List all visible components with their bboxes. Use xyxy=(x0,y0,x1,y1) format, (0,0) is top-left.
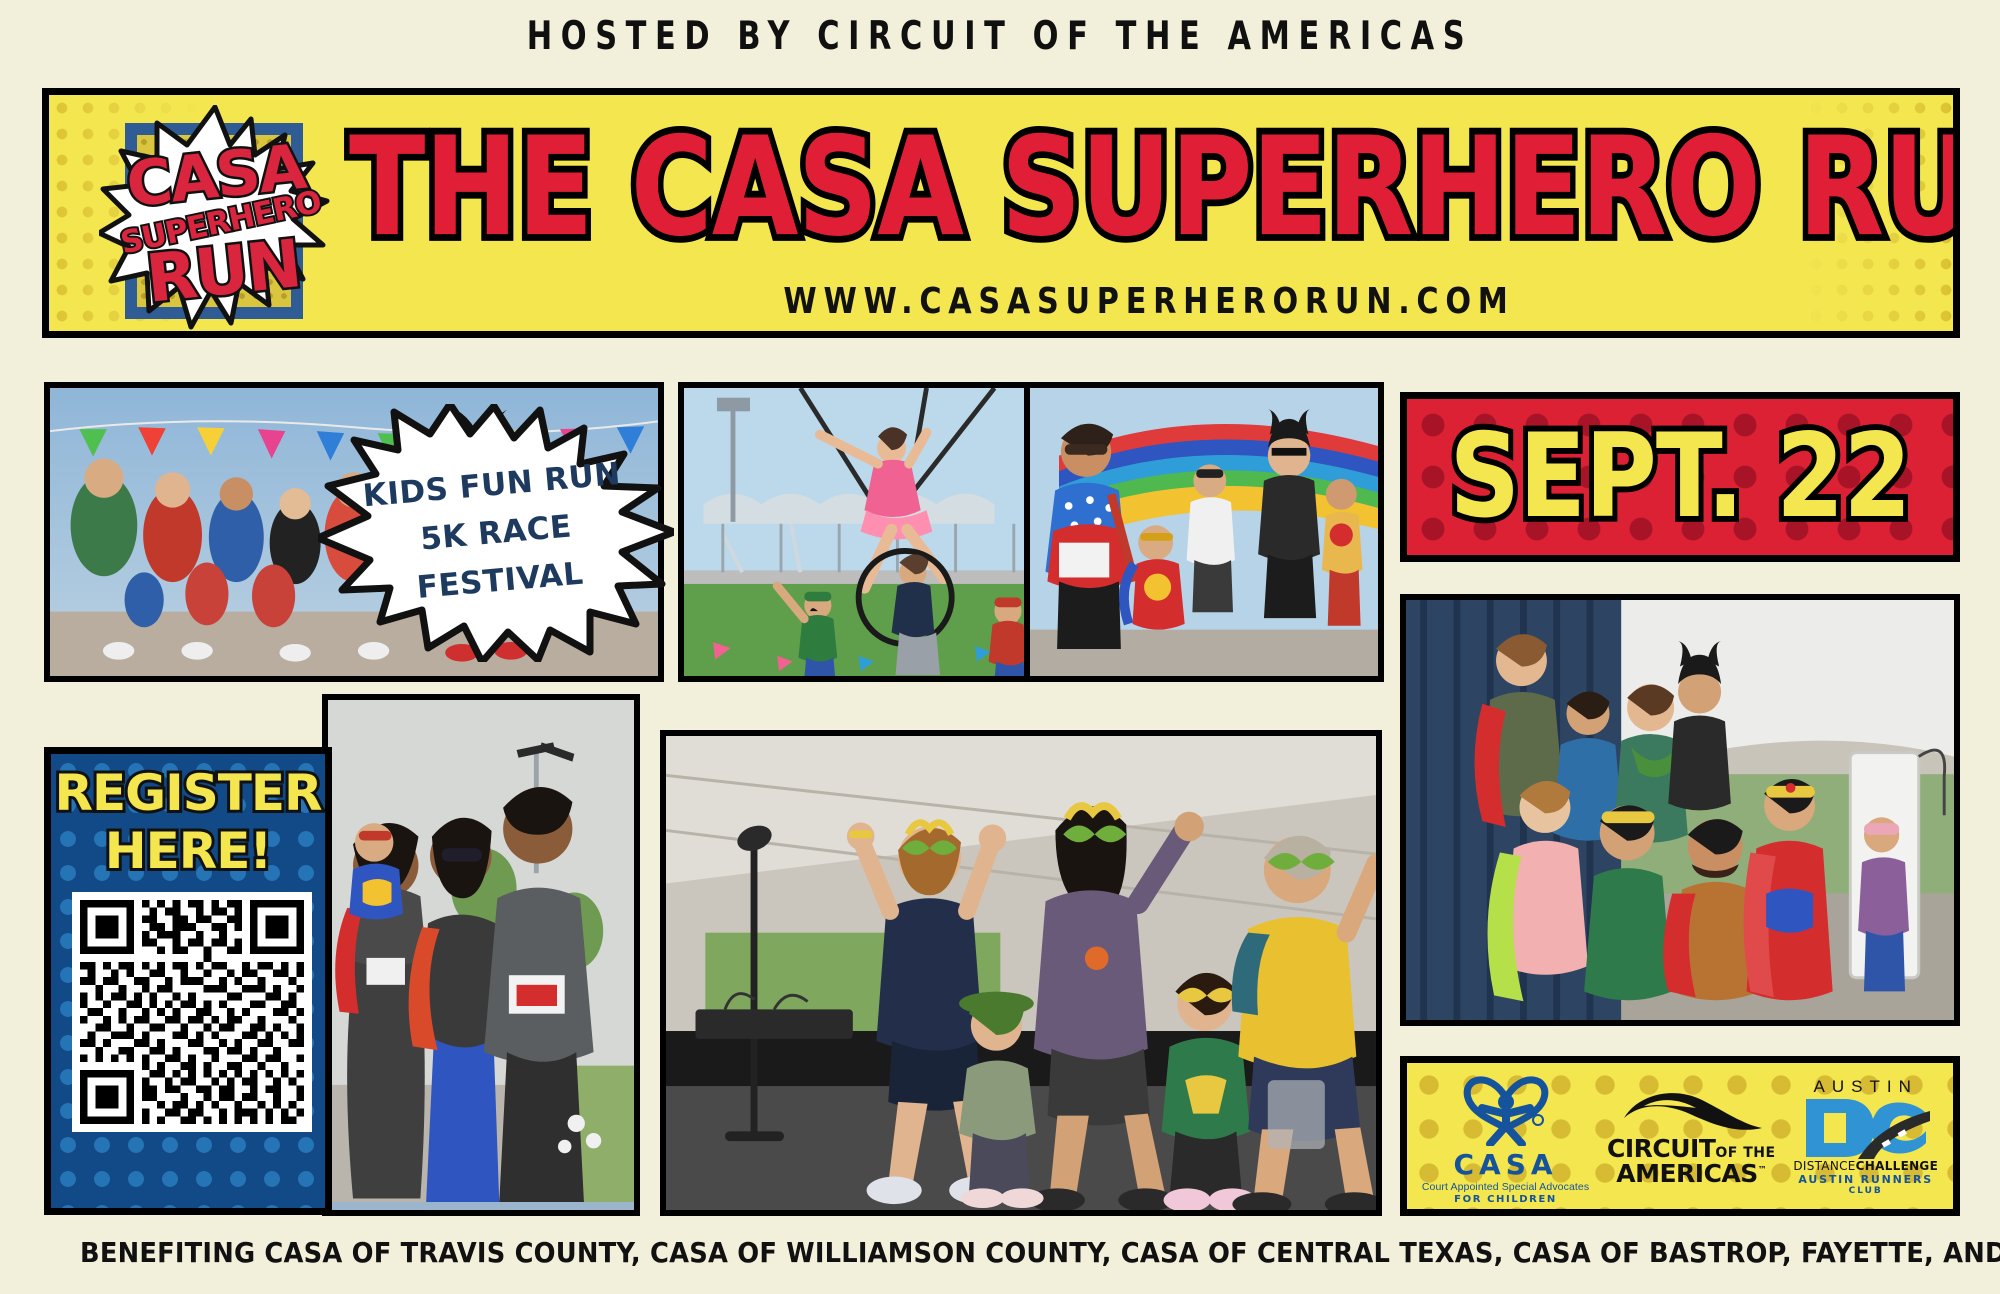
sponsor-casa-sub2: FOR CHILDREN xyxy=(1454,1194,1557,1205)
photo-art-aerial-performers xyxy=(684,388,1072,679)
sponsor-cota-line1: CIRCUITOF THE xyxy=(1607,1136,1776,1161)
qr-code[interactable] xyxy=(72,892,312,1132)
event-date-panel: SEPT. 22 xyxy=(1400,392,1960,562)
photo-wonder-woman-runners xyxy=(1024,382,1384,682)
sponsor-austin-runners-club: AUSTIN RUNNERS xyxy=(1798,1173,1933,1186)
photo-aerial-performers xyxy=(678,382,1078,682)
casa-logo-icon xyxy=(1460,1068,1552,1146)
sponsor-casa-name: CASA xyxy=(1454,1148,1558,1181)
casa-superhero-run-logo: CASA SUPERHERO RUN xyxy=(99,105,331,333)
sponsor-arc-club: CLUB xyxy=(1849,1186,1883,1196)
hosted-by-text: HOSTED BY CIRCUIT OF THE AMERICAS xyxy=(220,14,1780,59)
poster-root: HOSTED BY CIRCUIT OF THE AMERICAS CASA S… xyxy=(0,0,2000,1294)
event-date-text: SEPT. 22 xyxy=(1449,410,1910,545)
event-callout-starburst: KIDS FUN RUN 5K RACE FESTIVAL xyxy=(318,404,674,662)
photo-family-portrait xyxy=(322,694,640,1216)
cota-swoosh-icon xyxy=(1616,1084,1766,1136)
sponsor-casa-sub1: Court Appointed Special Advocates xyxy=(1422,1181,1589,1193)
benefiting-text: BENEFITING CASA OF TRAVIS COUNTY, CASA O… xyxy=(80,1236,1920,1269)
sponsor-casa: CASA Court Appointed Special Advocates F… xyxy=(1422,1068,1589,1205)
photo-art-stage-family xyxy=(666,736,1376,1214)
photo-art-group-superheroes xyxy=(1406,600,1954,1023)
sponsor-bar: CASA Court Appointed Special Advocates F… xyxy=(1400,1056,1960,1216)
sponsor-circuit-of-the-americas: CIRCUITOF THE AMERICAS™ xyxy=(1607,1084,1776,1187)
register-panel[interactable]: REGISTER HERE! xyxy=(44,747,332,1215)
title-banner: CASA SUPERHERO RUN THE CASA SUPERHERO RU… xyxy=(42,88,1960,338)
callout-text-block: KIDS FUN RUN 5K RACE FESTIVAL xyxy=(307,389,684,677)
register-label-line2: HERE! xyxy=(51,822,325,880)
website-url[interactable]: WWW.CASASUPERHERORUN.COM xyxy=(477,281,1821,322)
dc-mark-icon xyxy=(1802,1097,1930,1159)
photo-art-wonder-woman-runners xyxy=(1030,388,1378,678)
qr-code-icon xyxy=(80,900,304,1124)
sponsor-cota-line2: AMERICAS™ xyxy=(1616,1161,1766,1187)
sponsor-dc-distance-challenge: DISTANCECHALLENGE xyxy=(1793,1159,1938,1173)
logo-text-block: CASA SUPERHERO RUN xyxy=(99,105,331,333)
photo-art-family-portrait xyxy=(328,700,634,1202)
sponsor-dc-austin: AUSTIN xyxy=(1814,1077,1918,1097)
photo-group-superheroes xyxy=(1400,594,1960,1026)
page-title: THE CASA SUPERHERO RUN xyxy=(349,117,1949,260)
register-label-line1: REGISTER xyxy=(51,764,325,822)
photo-stage-family xyxy=(660,730,1382,1216)
sponsor-austin-distance-challenge: AUSTIN DISTANCECHALLENGE AUSTIN RUNNERS … xyxy=(1793,1077,1938,1196)
